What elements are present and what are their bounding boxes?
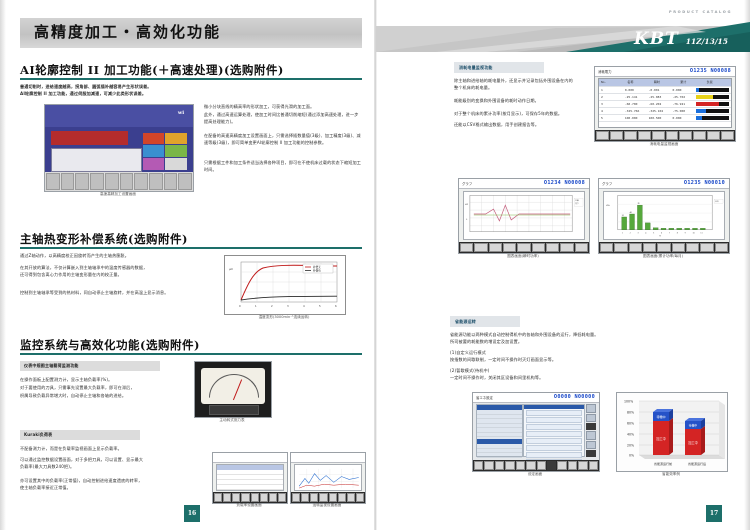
section-rule-2 — [20, 247, 362, 249]
svg-text:10: 10 — [693, 233, 695, 235]
brand-models: 11Z/13/15 — [686, 37, 728, 46]
meter-face — [201, 368, 265, 404]
col-total: 累计 — [678, 80, 704, 84]
cell-c1: 0.000 — [623, 88, 647, 92]
energy-line-6: 一定时间不操作时，关闭其区设备和间里机构等。 — [450, 375, 690, 382]
power-screen-title: 消耗電力 — [598, 69, 612, 74]
product-catalog-label: PRODUCT CATALOG — [669, 10, 732, 14]
svg-text:3: 3 — [637, 233, 638, 235]
cnc-red-band — [51, 131, 128, 145]
chip-spindle-load-monitor: 仪表中规图主轴载荷监测功能 — [20, 361, 160, 371]
table-row: 3 -60.700 -60.202 -76.921 — [599, 101, 731, 108]
caption-analog-meter: 主动转式测力表 — [194, 418, 270, 423]
table-row: 2 -25.141 -25.083 -25.702 — [599, 94, 731, 101]
svg-text:32: 32 — [622, 215, 624, 217]
nc-header-2 — [291, 453, 365, 463]
chart-energy-saving-effect: 100% 80% 60% 40% 20% 0% 待機中 加工中 — [616, 392, 728, 472]
svg-text:省能源运行后: 省能源运行后 — [688, 461, 706, 466]
left-banner-title: 高精度加工・高効化功能 — [34, 21, 221, 42]
svg-text:9: 9 — [685, 233, 686, 235]
bar-before: 待機中 加工中 — [653, 409, 673, 455]
table-row: 4 -325.766 -325.104 -75.000 — [599, 108, 731, 115]
svg-text:3: 3 — [287, 304, 289, 308]
chip-energy-saving: 省能源运转 — [450, 316, 520, 327]
caption-energy-effect: 省能效率例 — [616, 472, 726, 477]
svg-text:5: 5 — [319, 304, 321, 308]
cell-c3: 0.000 — [670, 88, 694, 92]
line-chart-softkeys[interactable] — [459, 242, 589, 253]
settings-left-pane — [476, 404, 523, 457]
nc-table-area — [216, 464, 284, 491]
kuraki-line-4: 亦可设置其中的负载率(正常值)，自动控制进给速度遗底的转率， — [20, 478, 192, 485]
cnc-softkeys[interactable] — [45, 172, 193, 191]
cell-no: 2 — [599, 95, 623, 99]
col-inst: 瞬时 — [652, 80, 678, 84]
svg-text:补偿有: 补偿有 — [313, 269, 321, 273]
svg-text:加工中: 加工中 — [688, 440, 698, 445]
bar-after: 待機中 加工中 — [685, 418, 705, 455]
settings-oid: O0000 N00000 — [554, 394, 595, 400]
cell-c3: -25.702 — [670, 95, 694, 99]
cell-c2: -25.083 — [647, 95, 671, 99]
svg-text:100%: 100% — [624, 400, 633, 404]
page-number-right: 17 — [706, 505, 722, 522]
thermal-line-4: 控制到主轴轴承等受到的热材料，同自动停止主轴旋转，并在高温上显示消息。 — [20, 290, 210, 297]
cell-c3: -75.000 — [670, 109, 694, 113]
bar-chart-oid: O1235 N00010 — [684, 180, 725, 186]
power-line-4: 对于整个机床的累计功率(按月显示)，可保存5年的数据。 — [454, 111, 584, 118]
load-bar — [696, 116, 729, 120]
svg-text:0: 0 — [466, 219, 468, 221]
thermal-line-1: 通过Z轴动作，以高精度校正因旋转而产生的主轴热膨胀。 — [20, 253, 210, 260]
thermal-line-2: 在其开放的算法，不仅计算嵌入到主轴轴承中的温度传感器的数据， — [20, 265, 210, 272]
svg-text:4: 4 — [645, 233, 647, 235]
svg-text:44: 44 — [630, 212, 632, 214]
page-edge-left — [0, 0, 6, 530]
ai-intro-line-2: AI轮廓控制 II 加工功能，通过伺服加减速，可减少此类形状误差。 — [20, 91, 220, 98]
load-bar — [696, 95, 729, 99]
nc-trend-area — [294, 464, 362, 491]
caption-instant-power: 图表画面(瞬时功率) — [458, 254, 588, 259]
screen-monthly-power-chart: グラフ O1235 N00010 — [598, 178, 730, 254]
svg-text:µm: µm — [229, 268, 234, 271]
energy-line-4: 按指数的间歇联制，一定时间不操作时灭灯画面显示等。 — [450, 357, 690, 364]
energy-line-2: 所司被要的耗能数的增设定及加设置。 — [450, 339, 690, 346]
ai-right-text-1: 微小分块直线的精高率的形状加工，可获得光滑的加工面。 — [204, 104, 362, 111]
cell-c1: -25.141 — [623, 95, 647, 99]
svg-text:4: 4 — [303, 304, 305, 308]
chip-kuraki-load-meter: Kuraki负荷表 — [20, 430, 140, 440]
chip-power-monitor: 消耗电量监视功能 — [454, 62, 544, 73]
figure-hspeed-setting: wi — [44, 104, 194, 192]
svg-text:kW: kW — [465, 204, 468, 206]
power-line-1: 除主轴和进给轴的耗电量外，还显示并记录包括外围设备在内的 — [454, 78, 584, 85]
col-name: 名称 — [625, 80, 651, 84]
cnc-logo: wi — [178, 110, 184, 116]
energy-chart-svg: 100% 80% 60% 40% 20% 0% 待機中 加工中 — [617, 393, 727, 471]
kuraki-line-2: 可以通过监控数据设置画面，对于多把刀具，可以设置、显示最大 — [20, 457, 192, 464]
settings-softkeys[interactable] — [473, 460, 599, 471]
power-table: No. 名称 瞬时 累计 负载 1 0.000 -0.001 0.000 — [598, 78, 732, 128]
chart-thermal-deformation: 补偿无 补偿有 012 345 6 µm — [224, 255, 346, 315]
cell-c2: -325.104 — [647, 109, 671, 113]
svg-text:0: 0 — [239, 304, 241, 308]
section-heading-ai-contour: AI轮廓控制 II 加工功能(＋高速处理)(选购附件) — [20, 62, 284, 78]
cell-c2: -0.001 — [647, 88, 671, 92]
nc-header — [213, 453, 287, 463]
figure-run-monitor-screen — [290, 452, 366, 504]
svg-text:2: 2 — [271, 304, 273, 308]
thermal-chart-svg: 补偿无 补偿有 012 345 6 µm — [225, 256, 345, 314]
monitor-line-2: 对于要使用的刀具，只需事先设置最大负载率，即可在滞后， — [20, 385, 180, 392]
cnc-tile-grid — [143, 133, 187, 171]
ai-right-text-4: 只需根据工件和加工条件适当选择各种项目，即可在不使机床过载的状态下缩短加工时间。 — [204, 160, 362, 173]
power-line-3: 耗能级别的变换和外围设备的耗时动作日期。 — [454, 98, 584, 105]
caption-monthly-power: 图表画面(累计功率/每月) — [598, 254, 728, 259]
power-screen-oid: O1235 N00088 — [690, 68, 731, 74]
meter-base — [209, 405, 260, 415]
svg-text:6: 6 — [661, 233, 663, 235]
svg-text:80%: 80% — [627, 411, 634, 415]
bar-chart-softkeys[interactable] — [599, 242, 729, 253]
cell-c3: -76.921 — [670, 102, 694, 106]
svg-text:kWh: kWh — [606, 205, 610, 207]
cell-no: 4 — [599, 109, 623, 113]
catalog-spread: 高精度加工・高効化功能 AI轮廓控制 II 加工功能(＋高速处理)(选购附件) … — [0, 0, 750, 530]
kuraki-line-1: 不配备测力计，而是在负载率监视画面上显示负载率。 — [20, 446, 192, 453]
ai-intro-line-1: 普通切削时，进给速度越高，拐角部、圆弧插补越容易产生形状误差。 — [20, 84, 220, 91]
cell-c1: 100.000 — [623, 116, 647, 120]
cell-c3: 0.000 — [670, 116, 694, 120]
cnc-screen-header — [45, 105, 193, 127]
svg-text:40%: 40% — [627, 433, 634, 437]
power-softkeys[interactable] — [595, 130, 735, 141]
section-heading-thermal: 主轴热变形补偿系统(选购附件) — [20, 231, 188, 247]
svg-text:5: 5 — [653, 233, 654, 235]
svg-text:待機中: 待機中 — [656, 414, 665, 419]
table-row: 5 100.000 100.500 0.000 — [599, 115, 731, 122]
section-rule-3 — [20, 353, 362, 355]
cell-c1: -60.700 — [623, 102, 647, 106]
line-chart-title: グラフ — [462, 181, 472, 186]
cell-c1: -325.766 — [623, 109, 647, 113]
section-rule — [20, 78, 362, 80]
cell-c2: 100.500 — [647, 116, 671, 120]
thermal-line-3: 还可得到包含离心力作用的主轴变形量在内的校正量。 — [20, 272, 210, 279]
kuraki-line-3: 负载率(最大刀具数240把)。 — [20, 464, 192, 471]
svg-text:6: 6 — [335, 304, 337, 308]
cell-no: 3 — [599, 102, 623, 106]
cell-c2: -60.202 — [647, 102, 671, 106]
svg-text:1: 1 — [255, 304, 257, 308]
monitor-line-3: 枳属导致负载异常增大时，自动停止主轴和各轴的进给。 — [20, 393, 180, 400]
svg-text:0%: 0% — [629, 454, 634, 458]
kuraki-line-5: 使主轴负载率接近正常值。 — [20, 485, 192, 492]
screen-power-monitor: 消耗電力 O1235 N00088 No. 名称 瞬时 累计 负载 1 0.00… — [594, 66, 736, 142]
svg-text:2: 2 — [630, 233, 631, 235]
power-line-5: 还能以CSV格式输出数据，用手创建报告等。 — [454, 122, 584, 129]
cnc-dialog — [51, 148, 142, 172]
svg-text:11: 11 — [700, 233, 702, 235]
right-page: PRODUCT CATALOG KBT 11Z/13/15 消耗电量监视功能 除… — [376, 0, 750, 530]
ai-right-text-3: 在配备的高速高精度加工设置画面上，只需选择插数量值(3级)、加工精度(3级)、减… — [204, 133, 362, 146]
brand-name: KBT — [634, 29, 679, 49]
power-table-header-row: No. 名称 瞬时 累计 负载 — [599, 79, 731, 87]
settings-right-pane — [523, 404, 585, 457]
left-page: 高精度加工・高効化功能 AI轮廓控制 II 加工功能(＋高速处理)(选购附件) … — [8, 0, 374, 530]
nc-softkeys-2[interactable] — [291, 492, 365, 503]
svg-text:1: 1 — [622, 233, 623, 235]
bar-chart-plot: 324478 kWh 123 456 789 1011 月 合計 — [603, 191, 725, 240]
section-heading-monitoring: 监控系统与高效化功能(选购附件) — [20, 337, 200, 353]
energy-line-5: (2)暂歇模式(待机中) — [450, 368, 690, 375]
load-bar — [696, 109, 729, 113]
load-bar — [696, 102, 729, 106]
svg-text:待機中: 待機中 — [689, 424, 698, 428]
energy-line-3: (1)自定义运行模式 — [450, 350, 690, 357]
screen-energy-settings: 省エネ設定 O0000 N00000 — [472, 392, 600, 472]
settings-side-buttons[interactable] — [586, 404, 596, 457]
energy-line-1: 省能源功能以两种模式自动控制得机中的各轴和外围设备的运行，降低耗电量。 — [450, 332, 690, 339]
svg-text:补偿无: 补偿无 — [313, 265, 321, 269]
svg-text:加工中: 加工中 — [656, 436, 666, 441]
col-load: 负载 — [705, 80, 731, 84]
svg-text:7: 7 — [669, 233, 670, 235]
brand-logo: KBT 11Z/13/15 — [634, 29, 728, 49]
settings-title: 省エネ設定 — [476, 395, 493, 400]
caption-run-monitor: 运转监视设置画面 — [290, 503, 364, 508]
bar-chart-title: グラフ — [602, 181, 612, 186]
chart-caption-thermal: 温度变形(3000min⁻¹连续运转) — [224, 315, 344, 320]
figure-analog-load-meter — [194, 361, 272, 418]
svg-text:20%: 20% — [627, 444, 634, 448]
figure-caption-hspeed: 高速高精加工设置画面 — [44, 192, 192, 197]
col-no: No. — [599, 80, 625, 84]
table-row: 1 0.000 -0.001 0.000 — [599, 87, 731, 94]
caption-settings-screen: 设定画面 — [472, 472, 598, 477]
svg-text:60%: 60% — [627, 422, 634, 426]
load-bar — [696, 88, 729, 92]
nc-softkeys[interactable] — [213, 492, 287, 503]
line-chart-oid: O1234 N00008 — [544, 180, 585, 186]
ai-right-text-2: 此外，通过高速运算处理，使加工时间比普通切削缩短(通过添加高速处理，进一步提高处… — [204, 112, 362, 125]
line-chart-plot: kW0 主軸送り — [463, 191, 585, 240]
svg-text:8: 8 — [677, 233, 678, 235]
figure-load-setting-screen — [212, 452, 288, 504]
svg-text:78: 78 — [637, 203, 639, 205]
svg-text:省能源运行前: 省能源运行前 — [654, 461, 672, 466]
cell-no: 5 — [599, 116, 623, 120]
caption-power-monitor: 消耗电量监视画面 — [594, 142, 734, 147]
caption-load-setting: 负载率设置画面 — [212, 503, 286, 508]
cell-no: 1 — [599, 88, 623, 92]
screen-instant-power-chart: グラフ O1234 N00008 — [458, 178, 590, 254]
power-line-2: 整个机床的耗电量。 — [454, 85, 584, 92]
page-number-left: 16 — [184, 505, 200, 522]
monitor-line-1: 在操作面板上配置测力计，显示主轴负载率(%)。 — [20, 377, 180, 384]
